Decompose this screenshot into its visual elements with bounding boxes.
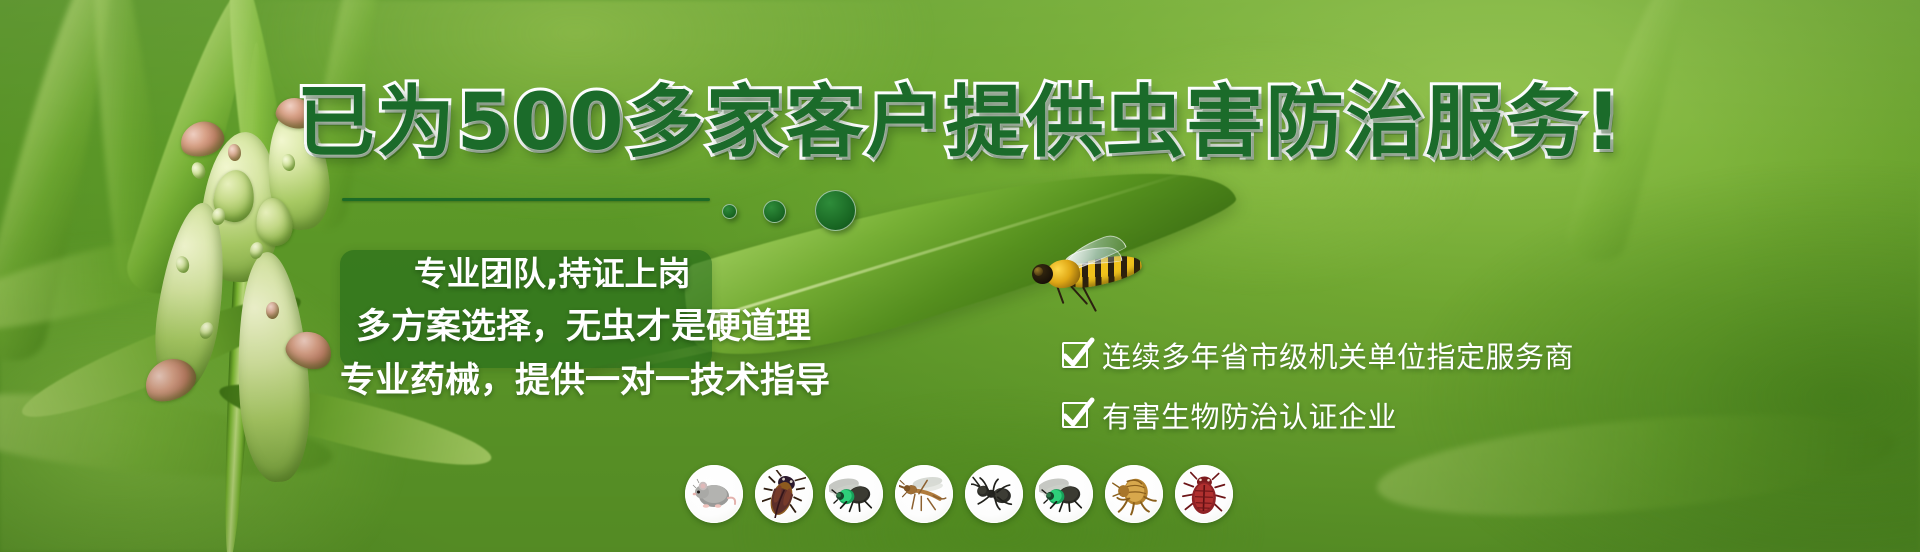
mouse-icon[interactable] — [685, 465, 743, 523]
decorative-dot-large — [815, 190, 856, 231]
selling-point-1: 专业团队,持证上岗 — [330, 252, 890, 296]
decorative-dot-medium — [763, 200, 786, 223]
pest-control-hero-banner: 已为500多家客户提供虫害防治服务! 专业团队,持证上岗 多方案选择，无虫才是硬… — [0, 0, 1920, 552]
certification-item: 连续多年省市级机关单位指定服务商 — [1062, 330, 1682, 380]
housefly-icon[interactable] — [1035, 465, 1093, 523]
selling-point-2: 多方案选择，无虫才是硬道理 — [330, 302, 890, 352]
hoverfly-illustration — [1030, 244, 1154, 308]
fly-icon[interactable] — [825, 465, 883, 523]
page-title-text: 已为500多家客户提供虫害防治服务! — [297, 78, 1623, 168]
certification-label: 连续多年省市级机关单位指定服务商 — [1102, 334, 1574, 376]
certification-label: 有害生物防治认证企业 — [1102, 394, 1397, 436]
selling-points-list: 专业团队,持证上岗 多方案选择，无虫才是硬道理 专业药械，提供一对一技术指导 — [330, 252, 890, 406]
bedbug-icon[interactable] — [1175, 465, 1233, 523]
mosquito-icon[interactable] — [895, 465, 953, 523]
flea-icon[interactable] — [1105, 465, 1163, 523]
page-title: 已为500多家客户提供虫害防治服务! — [0, 84, 1920, 162]
pest-type-icon-strip — [685, 465, 1233, 523]
decorative-dot-small — [722, 204, 737, 219]
cockroach-icon[interactable] — [755, 465, 813, 523]
certification-list: 连续多年省市级机关单位指定服务商 有害生物防治认证企业 — [1062, 330, 1682, 440]
insect-eye — [1034, 267, 1043, 276]
checkbox-checked-icon — [1062, 402, 1088, 428]
ant-icon[interactable] — [965, 465, 1023, 523]
checkbox-checked-icon — [1062, 342, 1088, 368]
certification-item: 有害生物防治认证企业 — [1062, 390, 1682, 440]
selling-point-3: 专业药械，提供一对一技术指导 — [330, 356, 890, 406]
decorative-rule — [342, 198, 710, 201]
